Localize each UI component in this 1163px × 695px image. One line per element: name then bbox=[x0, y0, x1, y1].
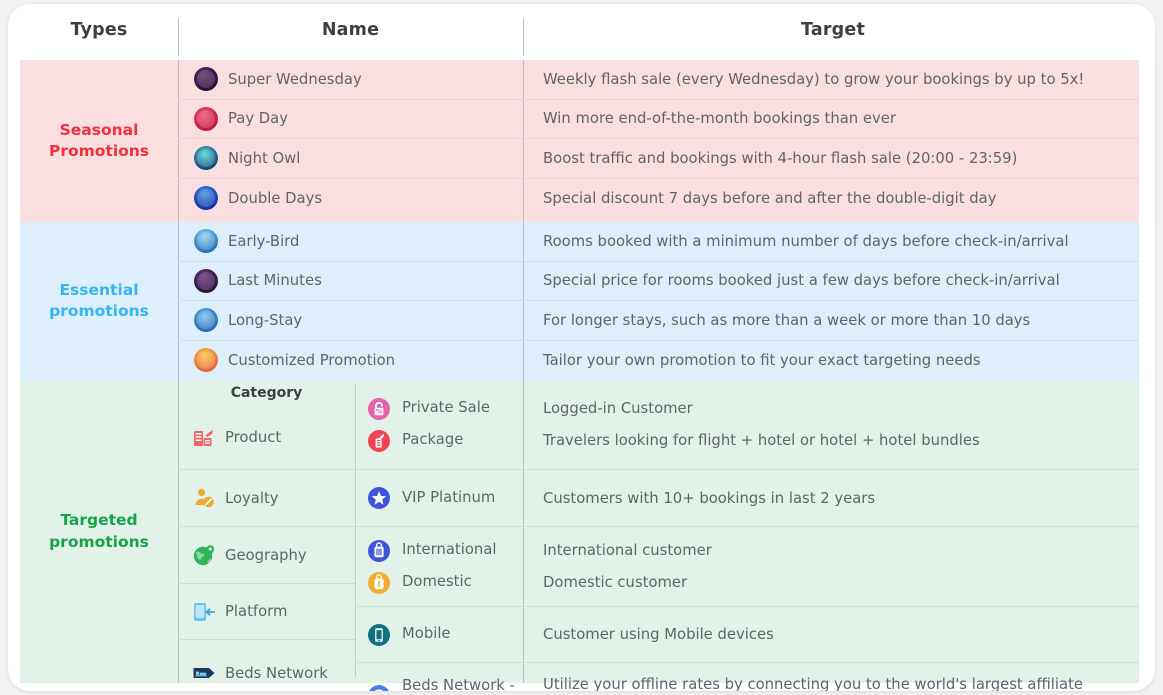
target-description: Special price for rooms booked just a fe… bbox=[523, 262, 1139, 302]
target-description: Travelers looking for flight + hotel or … bbox=[543, 425, 1139, 457]
name-column-essential: Early-Bird Last Minutes Long-Stay Custom… bbox=[178, 222, 523, 380]
name-column-seasonal: Super Wednesday Pay Day Night Owl Double… bbox=[178, 60, 523, 222]
night-owl-badge-icon bbox=[194, 146, 218, 170]
target-column-targeted: Logged-in Customer Travelers looking for… bbox=[523, 380, 1139, 683]
promotion-name: Last Minutes bbox=[228, 272, 322, 289]
geography-globe-icon bbox=[192, 543, 216, 567]
long-stay-badge-icon bbox=[194, 308, 218, 332]
category-row-product[interactable]: Product bbox=[178, 406, 355, 470]
promotion-name: Long-Stay bbox=[228, 312, 302, 329]
international-luggage-icon bbox=[367, 539, 391, 563]
category-column: Category Product bbox=[178, 380, 355, 683]
early-bird-badge-icon bbox=[194, 229, 218, 253]
target-description: Win more end-of-the-month bookings than … bbox=[523, 100, 1139, 140]
list-item[interactable]: Pay Day bbox=[178, 100, 523, 140]
subcategory-group-loyalty: VIP Platinum bbox=[355, 470, 523, 527]
list-item[interactable]: International bbox=[367, 535, 523, 567]
last-minutes-badge-icon bbox=[194, 269, 218, 293]
section-label-seasonal: Seasonal Promotions bbox=[20, 60, 178, 222]
subcategory-label: Mobile bbox=[402, 625, 451, 643]
category-row-beds-network[interactable]: Beds Network bbox=[178, 640, 355, 691]
category-row-platform[interactable]: Platform bbox=[178, 584, 355, 640]
list-item[interactable]: VIP Platinum bbox=[367, 482, 523, 514]
list-item[interactable]: Super Wednesday bbox=[178, 60, 523, 100]
category-label: Product bbox=[225, 429, 281, 446]
target-description: Weekly flash sale (every Wednesday) to g… bbox=[523, 60, 1139, 100]
subcategory-column: % Private Sale bbox=[355, 380, 523, 683]
section-targeted-promotions: Targeted promotions Category bbox=[20, 380, 1139, 683]
double-days-badge-icon bbox=[194, 186, 218, 210]
package-icon bbox=[367, 429, 391, 453]
subcategory-group-platform: Mobile bbox=[355, 607, 523, 663]
category-header: Category bbox=[178, 380, 355, 406]
target-description: Utilize your offline rates by connecting… bbox=[543, 674, 1139, 691]
list-item[interactable]: Package bbox=[367, 425, 523, 457]
subcategory-group-geography: International Domestic bbox=[355, 527, 523, 607]
list-item[interactable]: Double Days bbox=[178, 179, 523, 219]
header-divider-2 bbox=[523, 18, 524, 56]
promotion-name: Pay Day bbox=[228, 110, 288, 127]
subcategory-group-product: % Private Sale bbox=[355, 380, 523, 470]
pay-day-badge-icon bbox=[194, 107, 218, 131]
list-item[interactable]: Early-Bird bbox=[178, 222, 523, 262]
list-item[interactable]: % Beds Network - Maximum Gain bbox=[367, 677, 523, 691]
subcategory-label: Private Sale bbox=[402, 399, 490, 417]
header-target: Target bbox=[523, 4, 1143, 56]
private-sale-lock-icon: % bbox=[367, 397, 391, 421]
target-description: Domestic customer bbox=[543, 567, 1139, 599]
svg-text:%: % bbox=[376, 407, 383, 415]
target-group: International customer Domestic customer bbox=[523, 527, 1139, 607]
header-name: Name bbox=[178, 4, 523, 56]
section-label-essential: Essential promotions bbox=[20, 222, 178, 380]
target-description: Boost traffic and bookings with 4-hour f… bbox=[523, 139, 1139, 179]
category-row-loyalty[interactable]: Loyalty bbox=[178, 470, 355, 527]
header-types: Types bbox=[20, 4, 178, 56]
section-essential-promotions: Essential promotions Early-Bird Last Min… bbox=[20, 222, 1139, 380]
platform-icon bbox=[192, 600, 216, 624]
target-group: Logged-in Customer Travelers looking for… bbox=[523, 380, 1139, 470]
target-description: For longer stays, such as more than a we… bbox=[523, 301, 1139, 341]
list-item[interactable]: Long-Stay bbox=[178, 301, 523, 341]
subcategory-label: Beds Network - Maximum Gain bbox=[402, 677, 520, 691]
promotion-name: Customized Promotion bbox=[228, 352, 395, 369]
target-description: Rooms booked with a minimum number of da… bbox=[523, 222, 1139, 262]
header-divider-1 bbox=[178, 18, 179, 56]
vip-platinum-star-icon bbox=[367, 486, 391, 510]
domestic-luggage-icon bbox=[367, 571, 391, 595]
promotion-name: Early-Bird bbox=[228, 233, 299, 250]
promotions-table-card: Types Name Target Seasonal Promotions Su… bbox=[8, 4, 1155, 691]
category-label: Beds Network bbox=[225, 665, 328, 682]
subcategory-label: VIP Platinum bbox=[402, 489, 495, 507]
list-item[interactable]: Mobile bbox=[367, 619, 523, 651]
category-row-geography[interactable]: Geography bbox=[178, 527, 355, 584]
promotion-name: Super Wednesday bbox=[228, 71, 362, 88]
promotion-name: Night Owl bbox=[228, 150, 300, 167]
table-header: Types Name Target bbox=[8, 4, 1155, 56]
subcategory-label: International bbox=[402, 541, 496, 559]
target-description: Logged-in Customer bbox=[543, 393, 1139, 425]
target-column-essential: Rooms booked with a minimum number of da… bbox=[523, 222, 1139, 380]
target-description: International customer bbox=[543, 535, 1139, 567]
target-group: Utilize your offline rates by connecting… bbox=[523, 663, 1139, 691]
mobile-phone-icon bbox=[367, 623, 391, 647]
list-item[interactable]: % Private Sale bbox=[367, 393, 523, 425]
list-item[interactable]: Last Minutes bbox=[178, 262, 523, 302]
beds-network-percent-icon: % bbox=[367, 684, 391, 692]
list-item[interactable]: Customized Promotion bbox=[178, 341, 523, 381]
target-group: Customers with 10+ bookings in last 2 ye… bbox=[523, 470, 1139, 527]
section-seasonal-promotions: Seasonal Promotions Super Wednesday Pay … bbox=[20, 60, 1139, 222]
target-group: Customer using Mobile devices bbox=[523, 607, 1139, 663]
subcategory-label: Package bbox=[402, 431, 463, 449]
subcategory-label: Domestic bbox=[402, 573, 472, 591]
subcategory-group-beds-network: % Beds Network - Maximum Gain bbox=[355, 663, 523, 691]
product-icon bbox=[192, 426, 216, 450]
target-column-seasonal: Weekly flash sale (every Wednesday) to g… bbox=[523, 60, 1139, 222]
category-label: Loyalty bbox=[225, 490, 279, 507]
promotion-name: Double Days bbox=[228, 190, 322, 207]
list-item[interactable]: Night Owl bbox=[178, 139, 523, 179]
loyalty-icon bbox=[192, 486, 216, 510]
list-item[interactable]: Domestic bbox=[367, 567, 523, 599]
category-label: Platform bbox=[225, 603, 287, 620]
beds-network-icon bbox=[192, 661, 216, 685]
category-label: Geography bbox=[225, 547, 307, 564]
target-description: Special discount 7 days before and after… bbox=[523, 179, 1139, 219]
target-description: Customers with 10+ bookings in last 2 ye… bbox=[543, 482, 1139, 514]
target-description: Tailor your own promotion to fit your ex… bbox=[523, 341, 1139, 381]
super-wednesday-badge-icon bbox=[194, 67, 218, 91]
section-label-targeted: Targeted promotions bbox=[20, 380, 178, 683]
target-description: Customer using Mobile devices bbox=[543, 619, 1139, 651]
customized-promotion-badge-icon bbox=[194, 348, 218, 372]
